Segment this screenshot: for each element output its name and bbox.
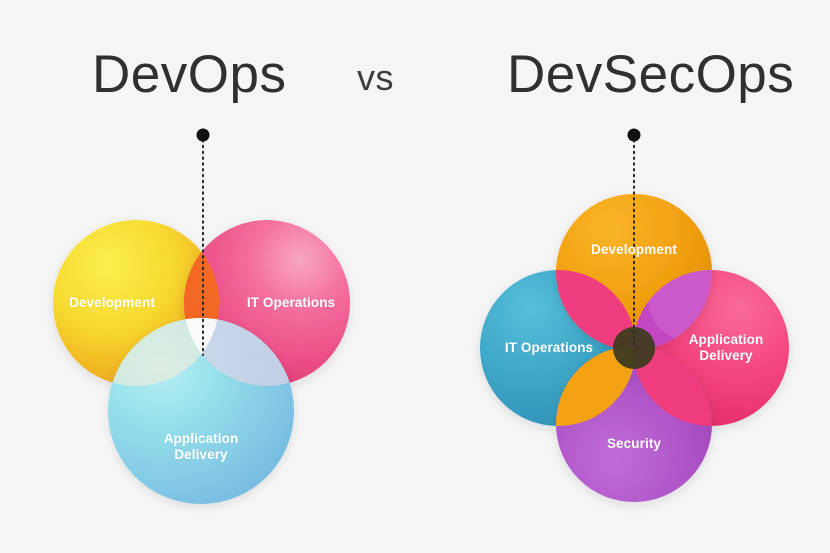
venn-diagrams-svg [0, 0, 830, 553]
right-pointer-dot-icon [628, 129, 641, 142]
left-pointer-dot-icon [197, 129, 210, 142]
left-venn-group [53, 220, 350, 504]
infographic-canvas: DevOps vs DevSecOps [0, 0, 830, 553]
right-venn-group [460, 180, 830, 553]
